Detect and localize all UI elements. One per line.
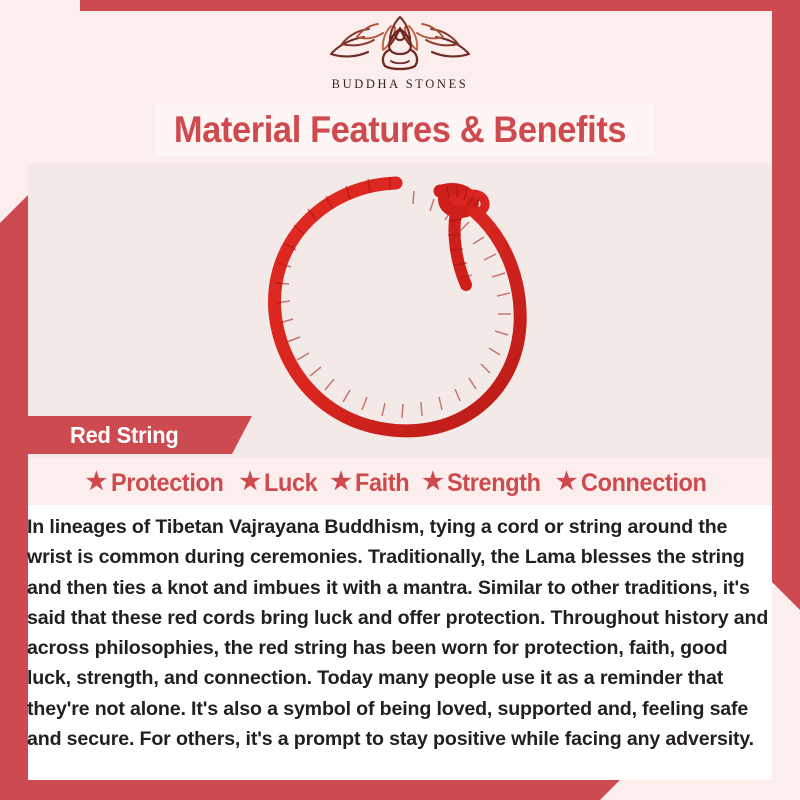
feature-item: ★ Strength — [422, 468, 547, 498]
feature-label: Protection — [111, 468, 223, 498]
feature-item: ★ Faith — [330, 468, 413, 498]
brand-name: BUDDHA STONES — [332, 77, 469, 92]
feature-item: ★ Luck — [239, 468, 321, 498]
feature-label: Connection — [581, 468, 706, 498]
feature-label: Faith — [355, 468, 409, 498]
features-list: ★ Protection ★ Luck ★ Faith ★ Strength ★… — [28, 468, 772, 498]
red-braided-string-bracelet — [244, 165, 574, 450]
feature-item: ★ Protection — [86, 468, 231, 498]
description-text: In lineages of Tibetan Vajrayana Buddhis… — [27, 512, 772, 754]
frame-accent-bottom — [0, 780, 620, 800]
feature-item: ★ Connection — [556, 468, 715, 498]
frame-accent-left — [0, 195, 28, 800]
star-icon: ★ — [330, 470, 351, 494]
page-title: Material Features & Benefits — [28, 106, 772, 154]
star-icon: ★ — [86, 470, 107, 494]
star-icon: ★ — [422, 470, 443, 494]
star-icon: ★ — [556, 470, 577, 494]
product-label: Red String — [70, 421, 179, 449]
brand-logo: BUDDHA STONES — [0, 14, 800, 100]
star-icon: ★ — [239, 470, 260, 494]
lotus-meditation-icon — [325, 14, 475, 76]
frame-accent-top — [80, 0, 800, 11]
product-feature-poster: BUDDHA STONES Material Features & Benefi… — [0, 0, 800, 800]
feature-label: Luck — [264, 468, 317, 498]
feature-label: Strength — [447, 468, 541, 498]
